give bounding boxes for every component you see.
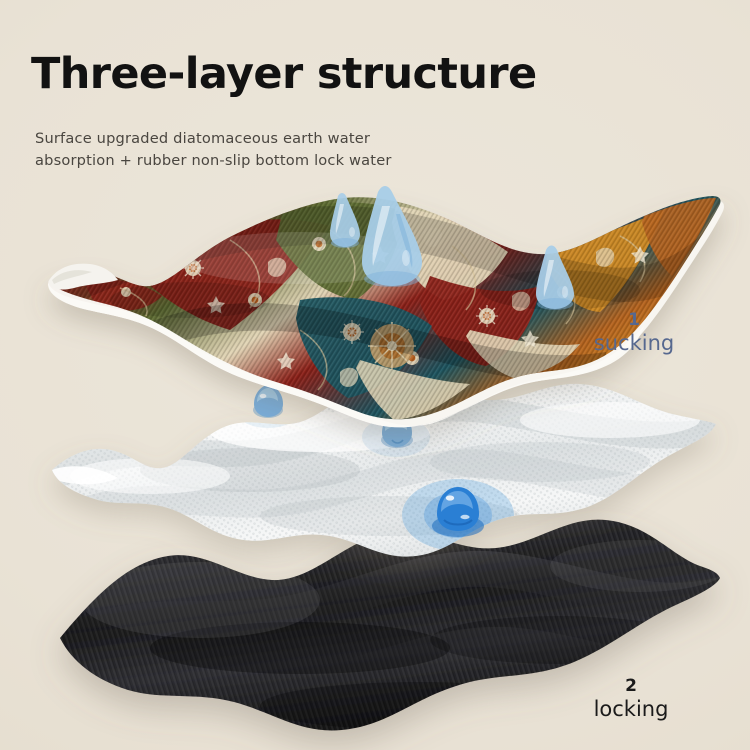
callout-1-number: 1 [574, 310, 694, 331]
callout-sucking: 1 sucking [574, 310, 694, 356]
callout-2-number: 2 [566, 676, 696, 697]
callout-1-label: sucking [574, 331, 694, 357]
callout-locking: 2 locking [566, 676, 696, 722]
infographic-canvas: Three-layer structure Surface upgraded d… [0, 0, 750, 750]
carpet-top-layer [0, 0, 750, 750]
callout-2-label: locking [566, 697, 696, 723]
